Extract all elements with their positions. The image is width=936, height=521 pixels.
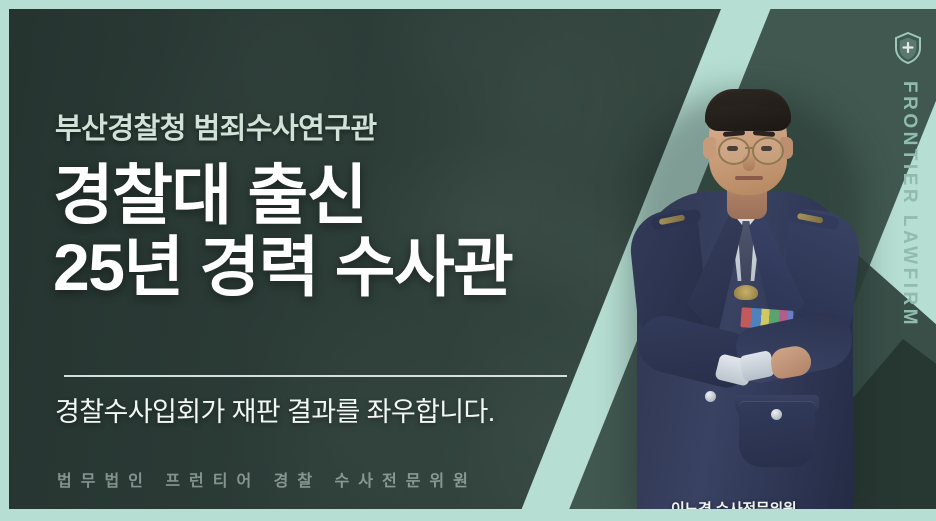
- footer-tagline: 법무법인 프런티어 경찰 수사전문위원: [57, 467, 477, 491]
- name-caption: 이노겸 수사전문위원: [671, 498, 796, 509]
- promo-banner: 부산경찰청 범죄수사연구관 경찰대 출신 25년 경력 수사관 경찰수사입회가 …: [0, 0, 936, 521]
- portrait-nose: [743, 153, 755, 171]
- eyebrow-text: 부산경찰청 범죄수사연구관: [55, 105, 377, 147]
- headline-line-1: 경찰대 출신: [53, 158, 366, 232]
- portrait-police-badge-icon: [734, 285, 758, 300]
- shield-plus-icon: [893, 31, 923, 65]
- subtitle-text: 경찰수사입회가 재판 결과를 좌우합니다.: [55, 390, 495, 429]
- vertical-brand-text: FRONTIER LAWFIRM: [893, 81, 925, 321]
- portrait-button-lower: [771, 409, 782, 420]
- portrait-button-upper: [705, 391, 716, 402]
- headline-line-2: 25년 경력 수사관: [53, 231, 512, 303]
- officer-portrait: [621, 61, 869, 509]
- portrait-glasses-bridge: [745, 147, 754, 149]
- vertical-brand-label: FRONTIER LAWFIRM: [898, 81, 920, 328]
- portrait-ear-left: [703, 137, 716, 159]
- portrait-glasses-right-lens: [752, 137, 784, 165]
- headline: 경찰대 출신 25년 경력 수사관: [53, 159, 512, 303]
- headline-divider: [64, 375, 567, 377]
- banner-inner-frame: 부산경찰청 범죄수사연구관 경찰대 출신 25년 경력 수사관 경찰수사입회가 …: [9, 9, 936, 509]
- portrait-mouth: [735, 176, 763, 180]
